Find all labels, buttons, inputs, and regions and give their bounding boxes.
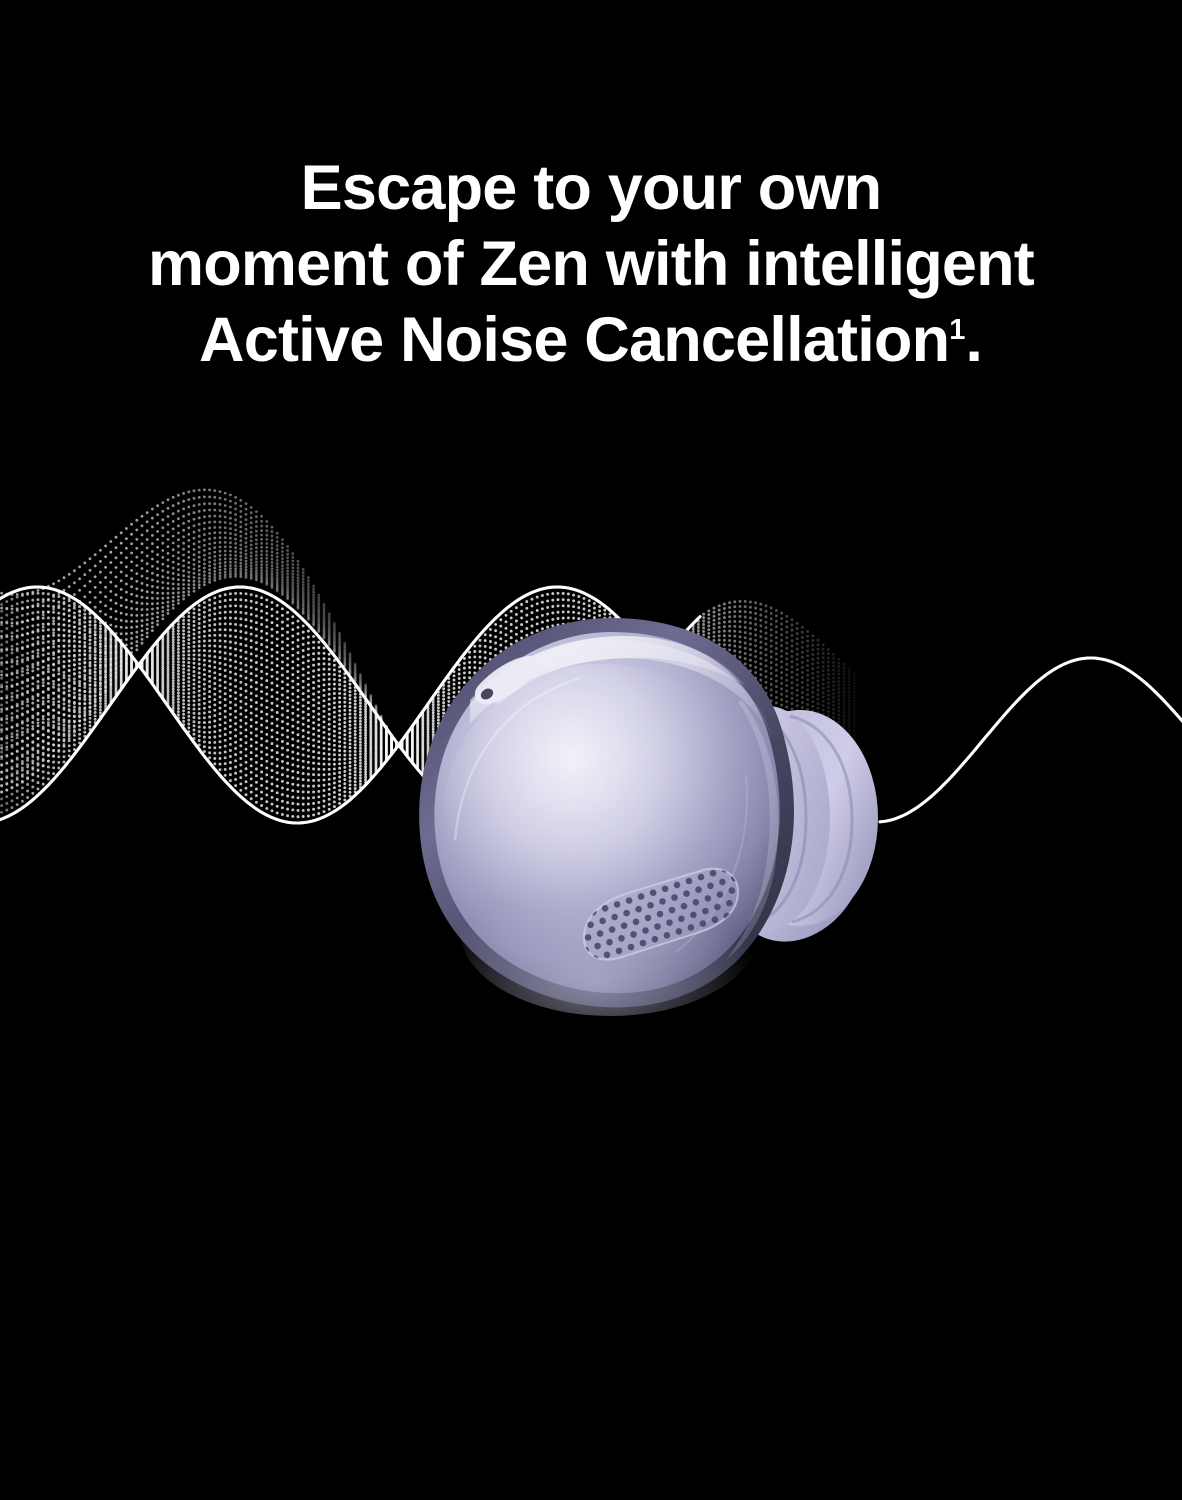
earbud-ear-tip [694,704,878,942]
wave-line-trailing [880,658,1182,822]
earbud-body [419,618,799,1016]
wave-line-lower [0,587,688,823]
headline-line-3-main: Active Noise Cancellation [199,305,949,375]
headline: Escape to your own moment of Zen with in… [0,150,1182,378]
grille-dot-matrix [523,829,800,999]
footnote-marker: 1 [949,314,965,346]
headline-line-2: moment of Zen with intelligent [0,226,1182,302]
promo-banner: Escape to your own moment of Zen with in… [0,0,1182,1500]
headline-line-3: Active Noise Cancellation1. [0,302,1182,378]
headline-period: . [965,305,983,375]
wave-line-upper [0,587,700,823]
sound-wave-svg [0,440,1182,960]
earbud-vent [475,656,541,704]
earbud-microphone-grille [523,829,800,999]
sound-wave-artwork [0,440,1182,960]
solid-wave-lines [0,587,1182,823]
headline-line-1: Escape to your own [0,150,1182,226]
dotted-mesh [0,488,856,824]
